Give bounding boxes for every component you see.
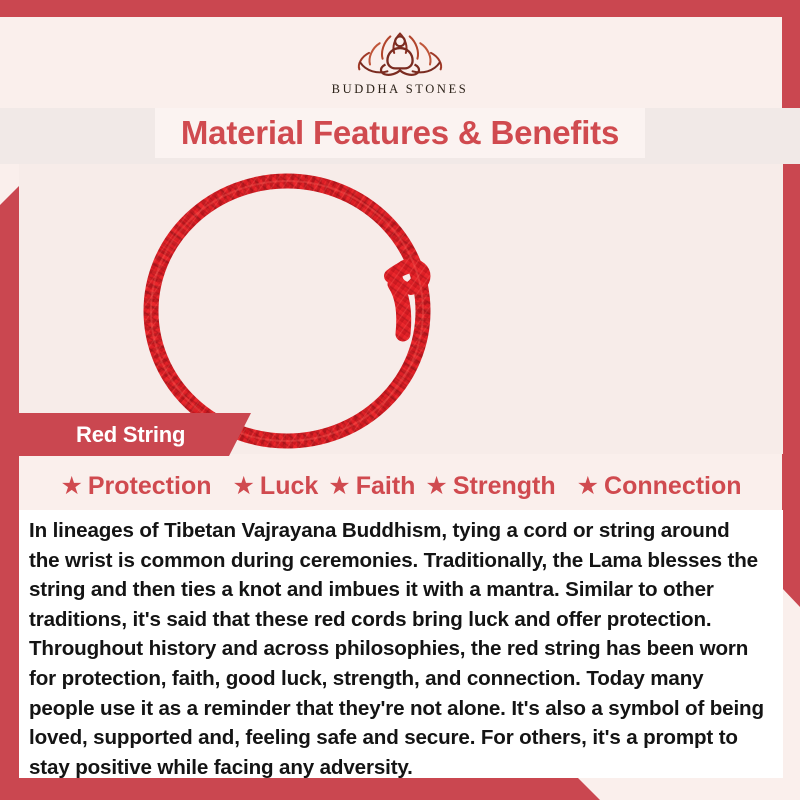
poster-root: BUDDHA STONES Material Features & Benefi… (0, 0, 800, 800)
feature-item-0: ★ Protection (60, 472, 211, 501)
star-icon: ★ (577, 474, 599, 499)
feature-item-4: ★ Connection (577, 472, 742, 501)
lotus-meditation-icon (335, 20, 465, 80)
star-icon: ★ (425, 474, 447, 499)
description-block: In lineages of Tibetan Vajrayana Buddhis… (19, 510, 783, 778)
star-icon: ★ (233, 474, 255, 499)
page-title: Material Features & Benefits (155, 108, 645, 158)
red-string-bracelet-illustration (19, 164, 783, 454)
feature-label-0: Protection (88, 472, 212, 501)
feature-item-1: ★ Luck (233, 472, 319, 501)
star-icon: ★ (60, 474, 82, 499)
feature-label-2: Faith (356, 472, 416, 501)
brand-name: BUDDHA STONES (332, 82, 469, 97)
product-image (19, 164, 783, 454)
ribbon-banner: Red String (19, 413, 251, 456)
page-title-text: Material Features & Benefits (181, 114, 619, 152)
brand-logo: BUDDHA STONES (0, 20, 800, 105)
ribbon-label: Red String (76, 422, 185, 448)
top-accent-band (0, 0, 800, 17)
feature-label-3: Strength (453, 472, 556, 501)
feature-item-3: ★ Strength (425, 472, 555, 501)
feature-label-4: Connection (604, 472, 742, 501)
left-accent-strip (0, 186, 19, 788)
star-icon: ★ (328, 474, 350, 499)
feature-label-1: Luck (260, 472, 318, 501)
description-text: In lineages of Tibetan Vajrayana Buddhis… (29, 516, 765, 782)
feature-item-2: ★ Faith (328, 472, 415, 501)
features-row: ★ Protection ★ Luck ★ Faith ★ Strength ★… (19, 462, 783, 510)
